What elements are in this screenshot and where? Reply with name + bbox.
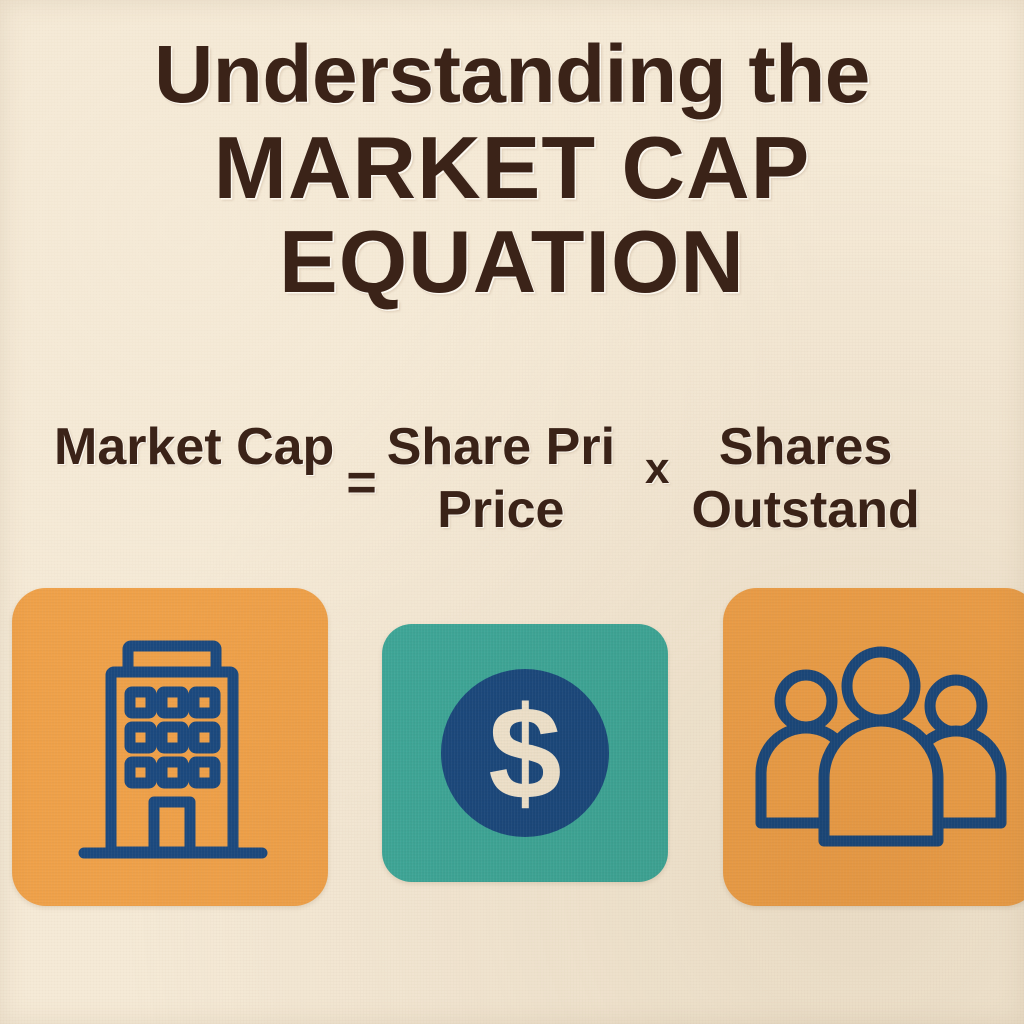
- formula-term-shares-outstanding-line1: Shares: [692, 416, 920, 479]
- office-building-icon: [12, 588, 328, 906]
- formula-term-share-price: Share Pri Price: [387, 404, 615, 543]
- card-share-price: $: [382, 624, 668, 882]
- people-group-icon: [723, 588, 1024, 906]
- market-cap-formula: Market Cap = Share Pri Price x Shares Ou…: [0, 404, 1024, 543]
- dollar-coin-icon: $: [382, 624, 668, 882]
- formula-equals-operator: =: [346, 404, 376, 515]
- title-line-2: MARKET CAP: [0, 124, 1024, 212]
- formula-times-operator: x: [645, 404, 669, 496]
- card-shares-outstanding: [723, 588, 1024, 906]
- title-block: Understanding the MARKET CAP EQUATION: [0, 34, 1024, 306]
- dollar-symbol: $: [488, 680, 561, 827]
- card-company: [12, 588, 328, 906]
- title-line-3: EQUATION: [0, 218, 1024, 306]
- formula-term-shares-outstanding: Shares Outstand: [692, 404, 920, 543]
- formula-term-share-price-line2: Price: [387, 479, 615, 542]
- title-line-1: Understanding the: [0, 34, 1024, 116]
- market-cap-infographic: Understanding the MARKET CAP EQUATION Ma…: [0, 0, 1024, 1024]
- formula-term-shares-outstanding-line2: Outstand: [692, 479, 920, 542]
- formula-term-share-price-line1: Share Pri: [387, 416, 615, 479]
- formula-term-market-cap: Market Cap: [54, 404, 334, 479]
